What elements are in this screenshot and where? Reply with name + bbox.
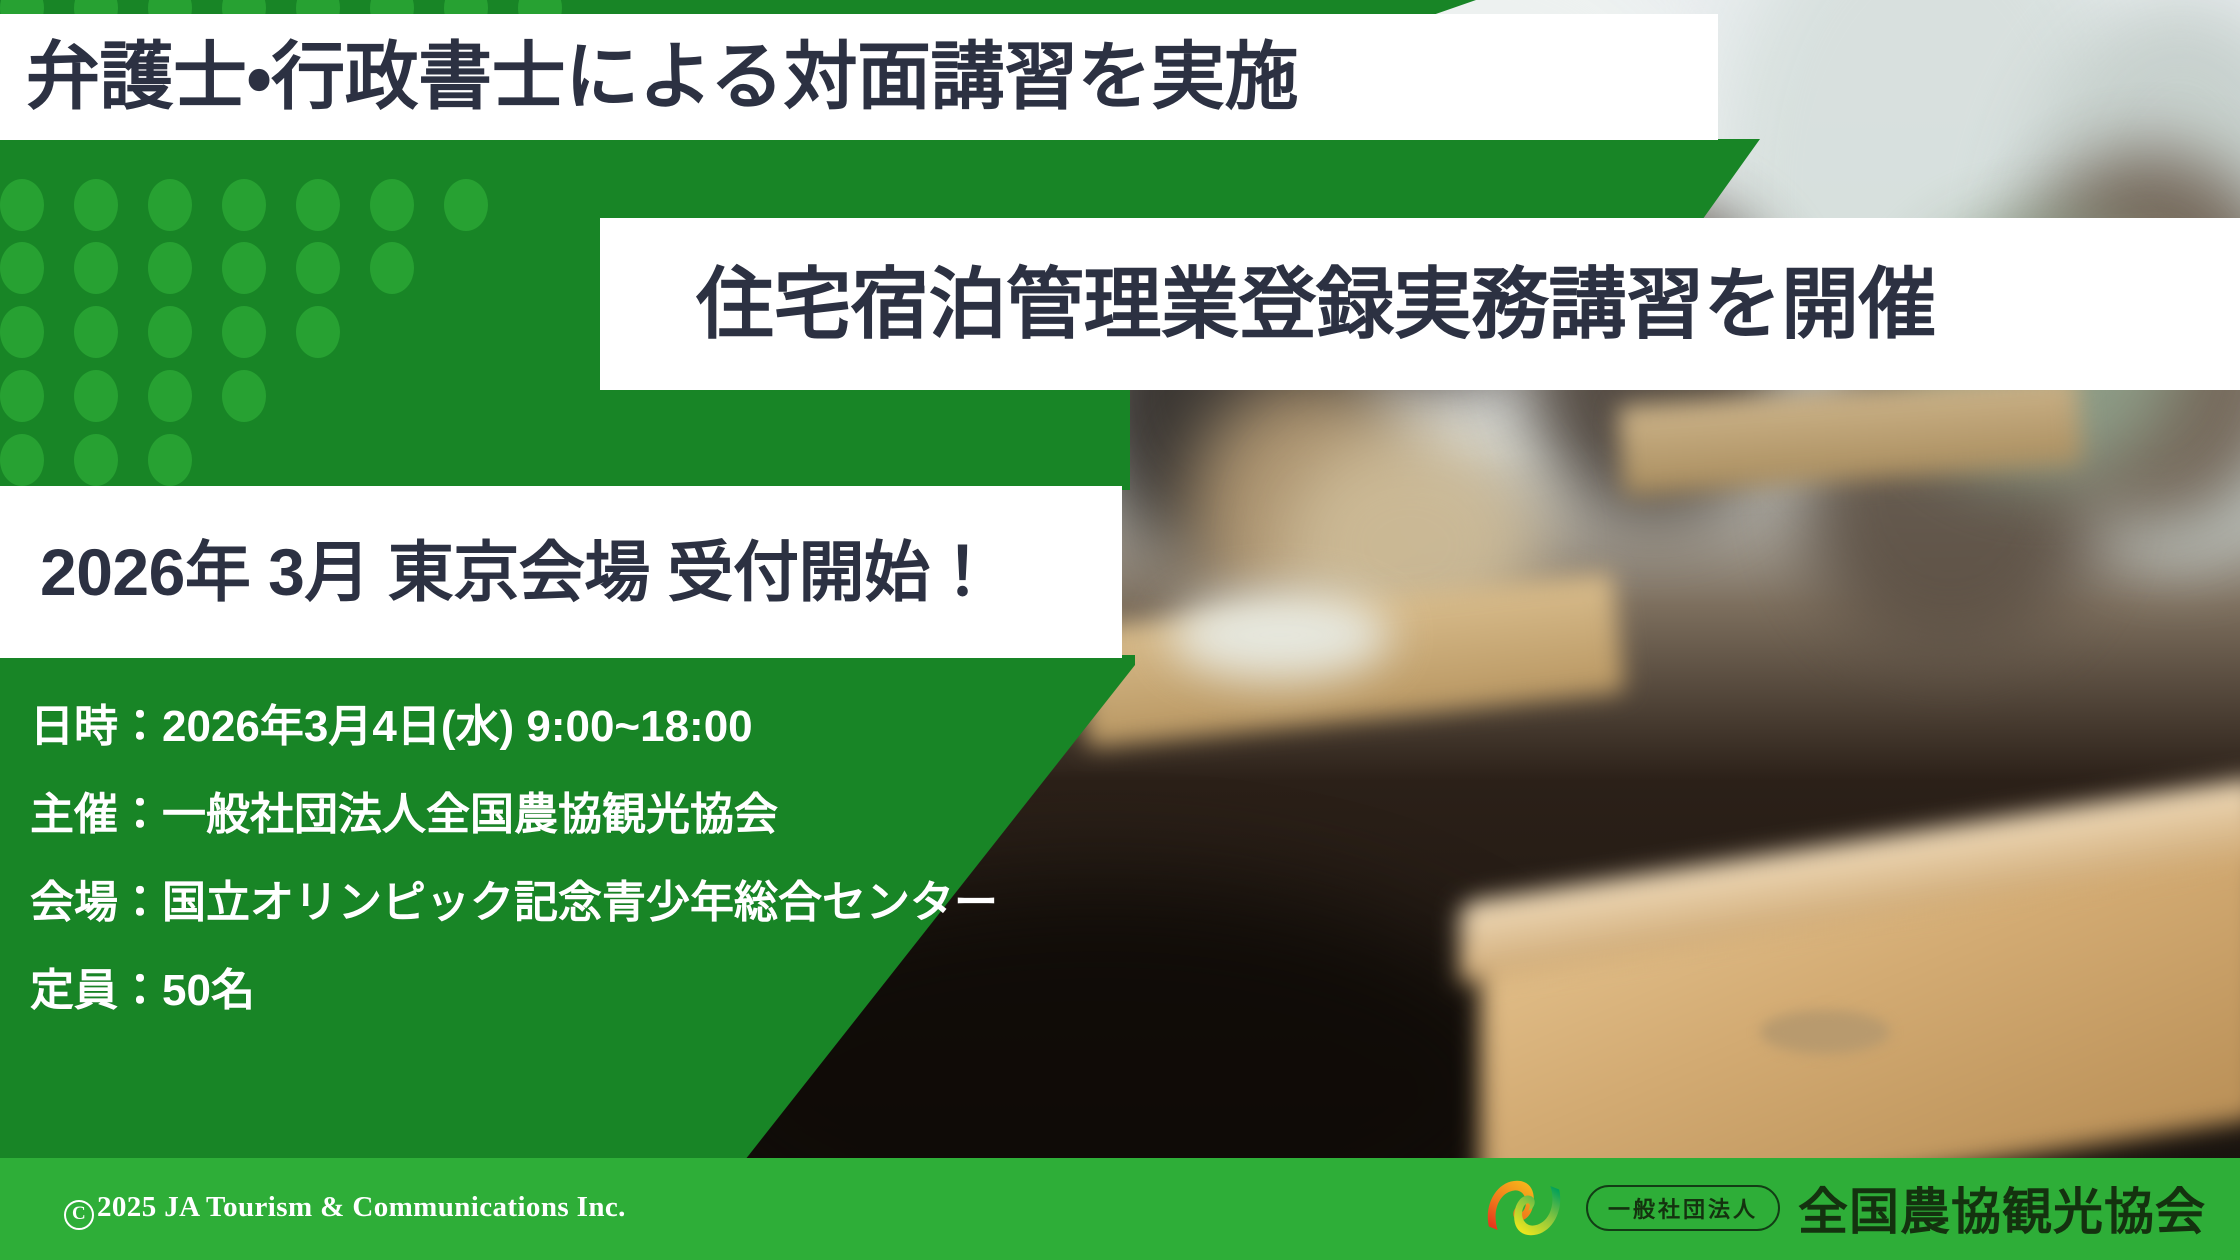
headline-banner-3: 2026年 3月 東京会場 受付開始！ (0, 486, 1122, 658)
brand-legal-form-pill: 一般社団法人 (1586, 1185, 1780, 1231)
event-details-list: 日時：2026年3月4日(水) 9:00~18:00 主催：一般社団法人全国農協… (30, 705, 1110, 1057)
green-band-under-headline1 (0, 139, 1700, 223)
copyright-icon: C (64, 1200, 94, 1230)
copyright-notice: C2025 JA Tourism & Communications Inc. (64, 1191, 626, 1230)
detail-datetime: 日時：2026年3月4日(水) 9:00~18:00 (30, 705, 1110, 749)
detail-venue: 会場：国立オリンピック記念青少年総合センター (30, 881, 1110, 925)
headline-1-text: 弁護士・行政書士による対面講習を実施 (0, 40, 1298, 114)
brand-lockup: 一般社団法人 全国農協観光協会 (1480, 1170, 2206, 1246)
headline-2-text: 住宅宿泊管理業登録実務講習を開催 (600, 265, 1936, 343)
headline-banner-2: 住宅宿泊管理業登録実務講習を開催 (600, 218, 2240, 390)
green-band-above-headline3 (0, 386, 1130, 490)
photo-blur-paper (1170, 590, 1390, 680)
detail-organizer: 主催：一般社団法人全国農協観光協会 (30, 793, 1110, 837)
headline-banner-1: 弁護士・行政書士による対面講習を実施 (0, 14, 1718, 140)
brand-name-text: 全国農協観光協会 (1798, 1172, 2206, 1244)
poster-root: 弁護士・行政書士による対面講習を実施 住宅宿泊管理業登録実務講習を開催 2026… (0, 0, 2240, 1260)
detail-capacity: 定員：50名 (30, 969, 1110, 1013)
association-logo-icon (1480, 1172, 1568, 1244)
photo-wood-tray-hole (1760, 1010, 1890, 1054)
headline-3-text: 2026年 3月 東京会場 受付開始！ (0, 539, 995, 605)
copyright-text: 2025 JA Tourism & Communications Inc. (97, 1191, 626, 1223)
